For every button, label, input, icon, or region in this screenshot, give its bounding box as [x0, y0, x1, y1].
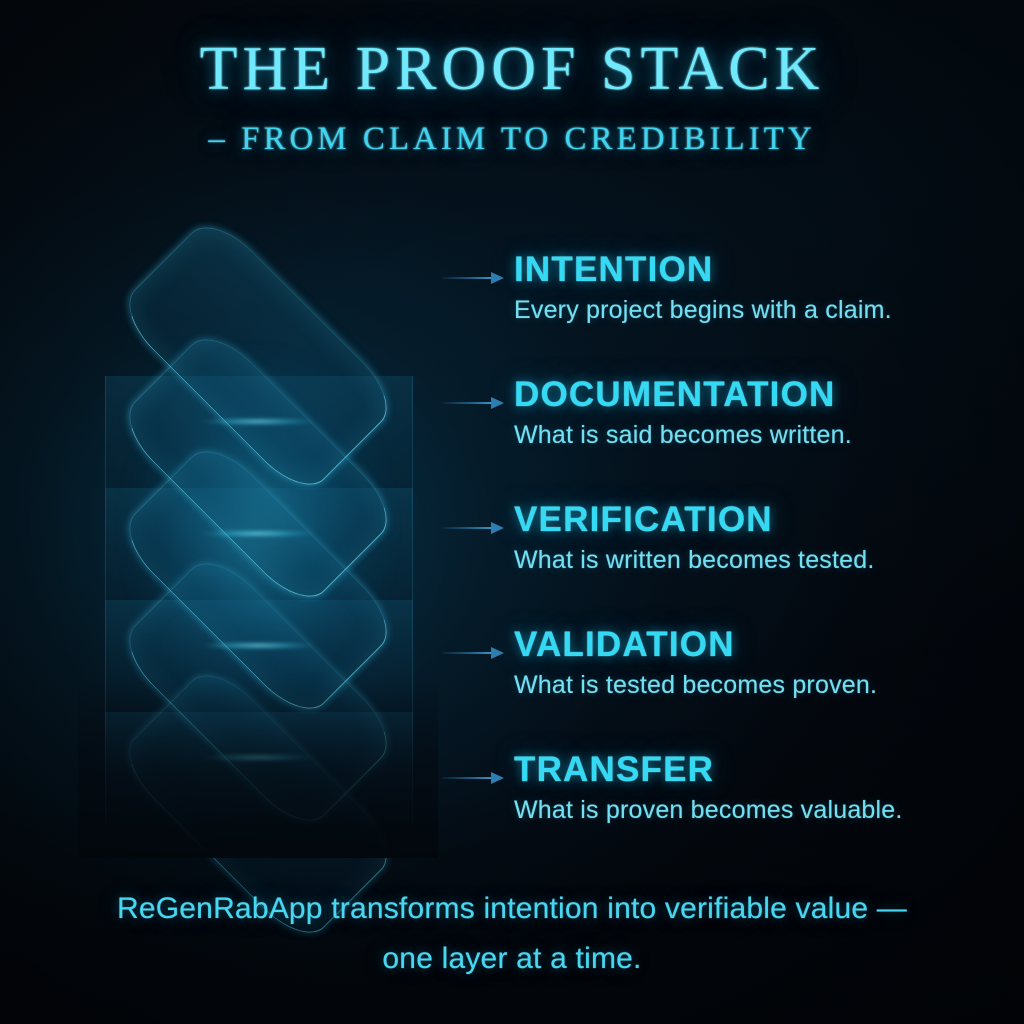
arrow-right-icon [442, 272, 504, 284]
page-title: THE PROOF STACK [0, 38, 1024, 100]
step-title: TRANSFER [514, 750, 714, 790]
step-title: VALIDATION [514, 625, 735, 665]
arrow-right-icon [442, 772, 504, 784]
arrow-right-icon [442, 522, 504, 534]
step-description: Every project begins with a claim. [514, 296, 892, 325]
arrow-right-icon [442, 397, 504, 409]
step-list: INTENTION Every project begins with a cl… [442, 250, 1002, 875]
step-item: VALIDATION What is tested becomes proven… [442, 625, 1002, 750]
arrow-right-icon [442, 647, 504, 659]
step-description: What is tested becomes proven. [514, 671, 877, 700]
step-description: What is said becomes written. [514, 421, 852, 450]
layer-stack-graphic [98, 228, 418, 828]
step-item: TRANSFER What is proven becomes valuable… [442, 750, 1002, 875]
step-item: DOCUMENTATION What is said becomes writt… [442, 375, 1002, 500]
step-title: VERIFICATION [514, 500, 773, 540]
step-item: INTENTION Every project begins with a cl… [442, 250, 1002, 375]
footer-line-1: ReGenRabApp transforms intention into ve… [62, 884, 962, 934]
step-item: VERIFICATION What is written becomes tes… [442, 500, 1002, 625]
header: THE PROOF STACK – FROM CLAIM TO CREDIBIL… [0, 38, 1024, 156]
footer-line-2: one layer at a time. [62, 934, 962, 984]
step-description: What is written becomes tested. [514, 546, 875, 575]
page-subtitle: – FROM CLAIM TO CREDIBILITY [0, 123, 1024, 156]
step-description: What is proven becomes valuable. [514, 796, 903, 825]
footer-tagline: ReGenRabApp transforms intention into ve… [62, 884, 962, 985]
step-title: DOCUMENTATION [514, 375, 836, 415]
proof-stack-infographic: THE PROOF STACK – FROM CLAIM TO CREDIBIL… [0, 0, 1024, 1024]
step-title: INTENTION [514, 250, 713, 290]
